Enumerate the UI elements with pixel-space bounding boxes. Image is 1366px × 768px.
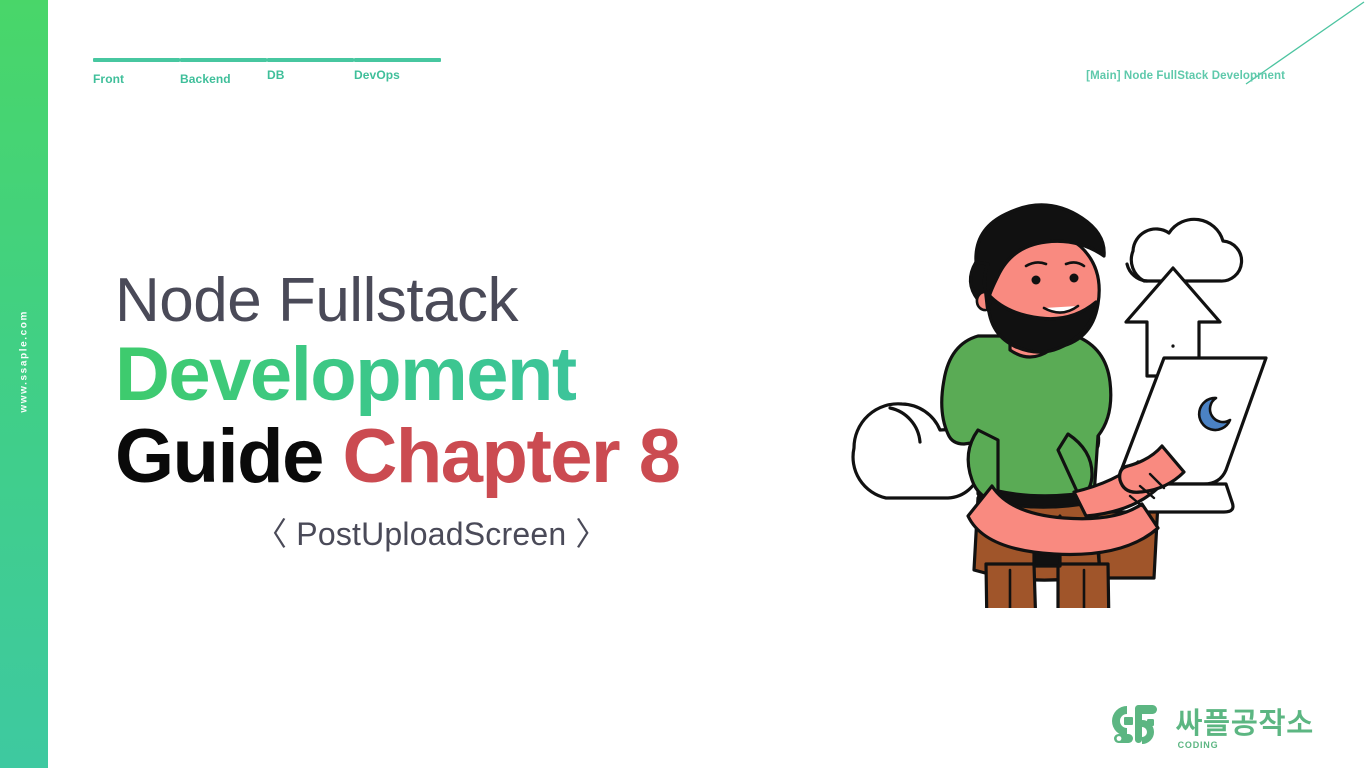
- nav-label-backend: Backend: [180, 72, 267, 86]
- left-accent-bar: www.ssaple.com: [0, 0, 48, 768]
- nav-item-db[interactable]: DB: [267, 58, 354, 86]
- slide-root: www.ssaple.com Front Backend DB DevOps […: [0, 0, 1366, 768]
- sidebar-website-url: www.ssaple.com: [19, 310, 30, 413]
- top-nav: Front Backend DB DevOps: [93, 58, 441, 86]
- nav-rule-db: [267, 58, 354, 62]
- nav-label-db: DB: [267, 68, 354, 82]
- nav-item-backend[interactable]: Backend: [180, 58, 267, 86]
- brand-tagline: CODING: [1178, 740, 1219, 750]
- nav-rule-front: [93, 58, 180, 62]
- page-title-guide: Guide: [115, 414, 342, 499]
- brand-name: 싸플공작소: [1176, 710, 1314, 739]
- nav-rule-devops: [354, 58, 441, 62]
- nav-label-devops: DevOps: [354, 68, 441, 82]
- ssaple-logo-icon: [1110, 700, 1166, 748]
- brand-logo: 싸플공작소 CODING: [1110, 700, 1314, 748]
- cloud-upload-icon: [1127, 219, 1242, 281]
- nav-item-front[interactable]: Front: [93, 58, 180, 86]
- page-title-line-3: Guide Chapter 8: [115, 417, 755, 497]
- page-subtitle-screen-name: 〈 PostUploadScreen 〉: [255, 509, 755, 555]
- nav-label-front: Front: [93, 72, 180, 86]
- nav-rule-backend: [180, 58, 267, 62]
- brand-text: 싸플공작소 CODING: [1176, 710, 1314, 739]
- hero-illustration: [828, 198, 1268, 608]
- nav-item-devops[interactable]: DevOps: [354, 58, 441, 86]
- page-title-line-1: Node Fullstack: [115, 270, 755, 332]
- page-title-chapter: Chapter 8: [342, 414, 679, 499]
- breadcrumb: [Main] Node FullStack Development: [1086, 70, 1285, 82]
- title-block: Node Fullstack Development Guide Chapter…: [115, 270, 755, 555]
- page-title-line-2: Development: [115, 332, 576, 417]
